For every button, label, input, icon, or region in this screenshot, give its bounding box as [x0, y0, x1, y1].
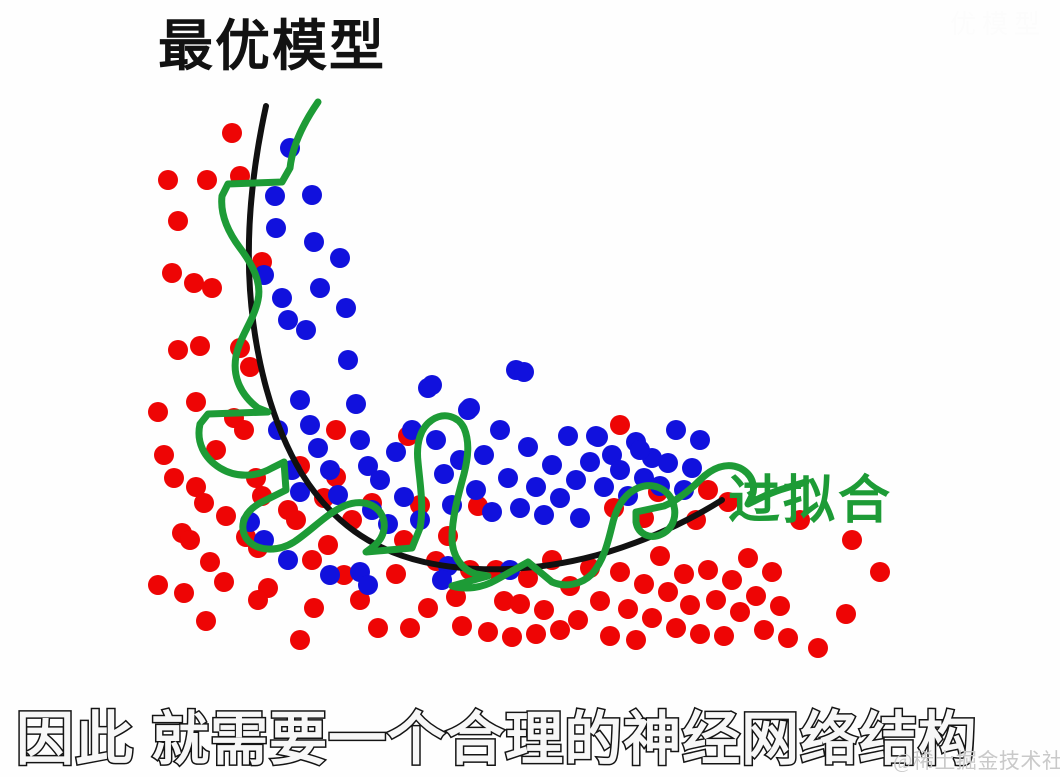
data-point: [658, 582, 678, 602]
data-point: [770, 596, 790, 616]
data-point: [214, 572, 234, 592]
data-point: [266, 218, 286, 238]
data-point: [738, 548, 758, 568]
data-point: [474, 445, 494, 465]
data-point: [168, 340, 188, 360]
data-point: [542, 455, 562, 475]
data-point: [870, 562, 890, 582]
data-point: [626, 630, 646, 650]
data-point: [290, 630, 310, 650]
data-point: [566, 470, 586, 490]
data-point: [154, 445, 174, 465]
data-point: [422, 375, 442, 395]
data-point: [518, 437, 538, 457]
data-points-layer: [148, 123, 890, 658]
page-title: 最优模型: [158, 18, 386, 76]
data-point: [265, 186, 285, 206]
data-point: [478, 622, 498, 642]
data-point: [754, 620, 774, 640]
data-point: [300, 415, 320, 435]
overfit-annotation-label: 过拟合: [728, 458, 893, 533]
data-point: [164, 468, 184, 488]
data-point: [296, 320, 316, 340]
data-point: [706, 590, 726, 610]
data-point: [358, 575, 378, 595]
data-point: [290, 390, 310, 410]
data-point: [196, 611, 216, 631]
data-point: [180, 530, 200, 550]
data-point: [580, 452, 600, 472]
data-point: [650, 546, 670, 566]
data-point: [216, 506, 236, 526]
data-point: [330, 248, 350, 268]
data-point: [148, 575, 168, 595]
data-point: [368, 618, 388, 638]
data-point: [466, 480, 486, 500]
data-point: [722, 570, 742, 590]
data-point: [304, 598, 324, 618]
data-point: [570, 508, 590, 528]
series-class-red: [148, 123, 890, 658]
corner-ghost-text: 优模型: [950, 4, 1046, 41]
data-point: [808, 638, 828, 658]
data-point: [642, 608, 662, 628]
caption-subtitle: 因此 就需要一个合理的神经网络结构: [16, 692, 977, 776]
data-point: [186, 392, 206, 412]
data-point: [568, 610, 588, 630]
scatter-plot: [0, 0, 1060, 777]
data-point: [308, 438, 328, 458]
data-point: [630, 440, 650, 460]
data-point: [286, 510, 306, 530]
data-point: [842, 530, 862, 550]
figure-canvas: 最优模型 过拟合 因此 就需要一个合理的神经网络结构 优模型 @稀土掘金技术社区: [0, 0, 1060, 777]
data-point: [174, 583, 194, 603]
data-point: [746, 586, 766, 606]
watermark: @稀土掘金技术社区: [893, 745, 1060, 775]
data-point: [386, 442, 406, 462]
data-point: [558, 426, 578, 446]
data-point: [730, 602, 750, 622]
data-point: [190, 336, 210, 356]
data-point: [304, 232, 324, 252]
data-point: [234, 420, 254, 440]
data-point: [168, 211, 188, 231]
data-point: [346, 394, 366, 414]
data-point: [272, 288, 292, 308]
data-point: [618, 599, 638, 619]
data-point: [370, 470, 390, 490]
data-point: [762, 562, 782, 582]
data-point: [666, 618, 686, 638]
data-point: [510, 498, 530, 518]
data-point: [400, 618, 420, 638]
data-point: [534, 505, 554, 525]
data-point: [148, 402, 168, 422]
data-point: [202, 278, 222, 298]
data-point: [336, 298, 356, 318]
data-point: [510, 594, 530, 614]
data-point: [326, 420, 346, 440]
data-point: [418, 598, 438, 618]
data-point: [682, 458, 702, 478]
data-point: [434, 464, 454, 484]
data-point: [184, 273, 204, 293]
data-point: [278, 550, 298, 570]
data-point: [394, 487, 414, 507]
data-point: [526, 624, 546, 644]
data-point: [350, 430, 370, 450]
data-point: [610, 562, 630, 582]
data-point: [634, 574, 654, 594]
data-point: [426, 430, 446, 450]
data-point: [534, 600, 554, 620]
data-point: [690, 430, 710, 450]
data-point: [158, 170, 178, 190]
data-point: [526, 477, 546, 497]
data-point: [320, 460, 340, 480]
data-point: [690, 624, 710, 644]
data-point: [302, 185, 322, 205]
data-point: [680, 595, 700, 615]
data-point: [698, 560, 718, 580]
data-point: [502, 627, 522, 647]
data-point: [514, 362, 534, 382]
data-point: [460, 398, 480, 418]
data-point: [674, 564, 694, 584]
data-point: [278, 310, 298, 330]
data-point: [197, 170, 217, 190]
data-point: [610, 415, 630, 435]
data-point: [778, 628, 798, 648]
data-point: [162, 263, 182, 283]
data-point: [610, 460, 630, 480]
data-point: [550, 488, 570, 508]
data-point: [666, 420, 686, 440]
data-point: [498, 468, 518, 488]
data-point: [320, 565, 340, 585]
data-point: [338, 350, 358, 370]
data-point: [594, 477, 614, 497]
data-point: [586, 426, 606, 446]
data-point: [200, 552, 220, 572]
data-point: [590, 591, 610, 611]
data-point: [248, 590, 268, 610]
data-point: [658, 453, 678, 473]
data-point: [302, 550, 322, 570]
data-point: [550, 620, 570, 640]
data-point: [386, 564, 406, 584]
data-point: [714, 626, 734, 646]
data-point: [222, 123, 242, 143]
data-point: [482, 502, 502, 522]
data-point: [452, 616, 472, 636]
data-point: [318, 535, 338, 555]
data-point: [600, 626, 620, 646]
data-point: [310, 278, 330, 298]
data-point: [490, 420, 510, 440]
data-point: [194, 493, 214, 513]
data-point: [836, 604, 856, 624]
